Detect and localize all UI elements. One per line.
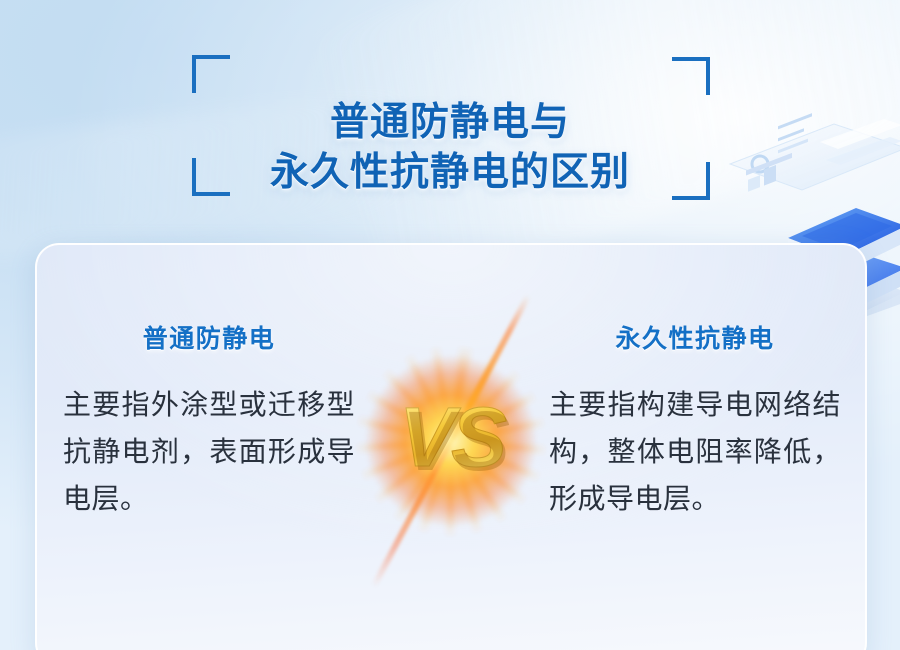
column-body-ordinary: 主要指外涂型或迁移型抗静电剂，表面形成导电层。 — [59, 381, 359, 522]
column-heading-permanent: 永久性抗静电 — [545, 319, 845, 355]
comparison-column-permanent: 永久性抗静电 主要指构建导电网络结构，整体电阻率降低，形成导电层。 — [545, 319, 845, 522]
poster-canvas: 普通防静电与 永久性抗静电的区别 普通防静电 主要指外涂型或迁移型抗静电剂，表面… — [0, 0, 900, 650]
bracket-top-left-icon — [192, 55, 230, 93]
column-heading-ordinary: 普通防静电 — [59, 319, 359, 355]
column-body-permanent: 主要指构建导电网络结构，整体电阻率降低，形成导电层。 — [545, 381, 845, 522]
poster-title: 普通防静电与 永久性抗静电的区别 — [0, 98, 900, 198]
poster-title-line-2: 永久性抗静电的区别 — [0, 148, 900, 198]
comparison-column-ordinary: 普通防静电 主要指外涂型或迁移型抗静电剂，表面形成导电层。 — [59, 319, 359, 522]
comparison-card: 普通防静电 主要指外涂型或迁移型抗静电剂，表面形成导电层。 永久性抗静电 主要指… — [35, 243, 867, 650]
poster-title-line-1: 普通防静电与 — [0, 98, 900, 148]
bracket-top-right-icon — [672, 57, 710, 95]
